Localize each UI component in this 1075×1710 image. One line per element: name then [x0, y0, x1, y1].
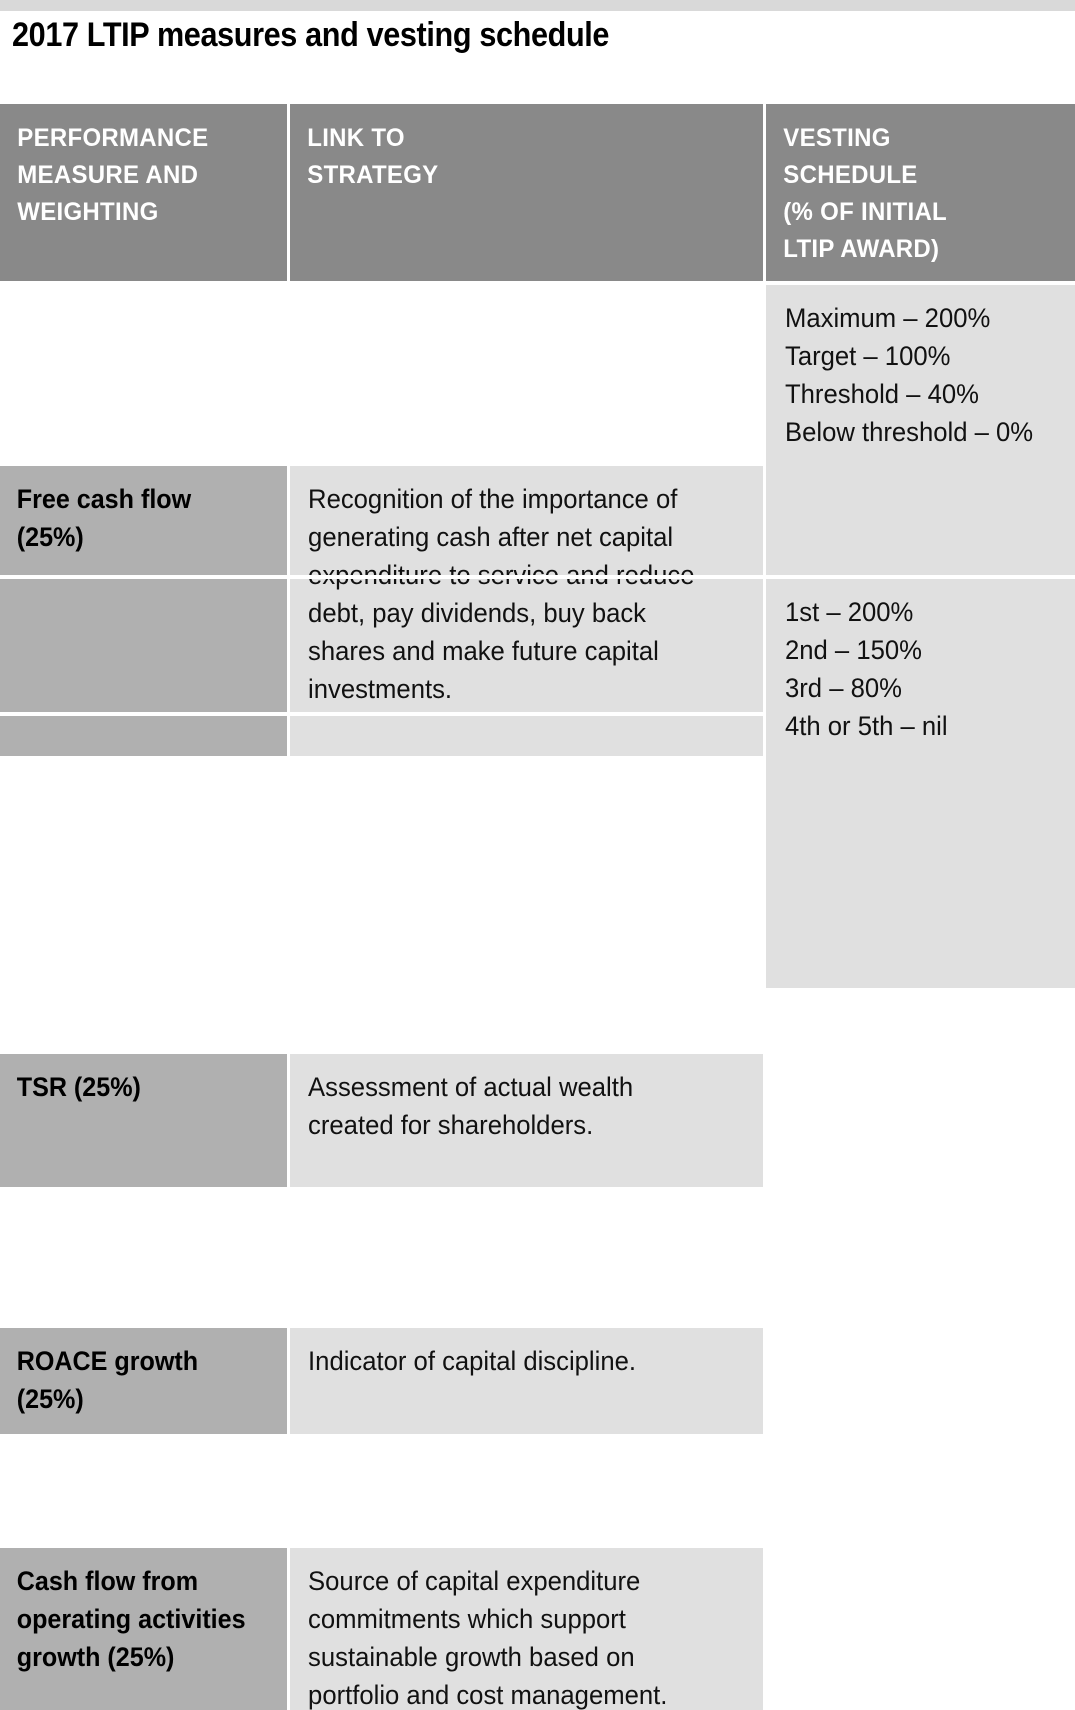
- measure-label: Free cash flow (25%): [0, 466, 267, 556]
- header-cell-performance-measure: PERFORMANCE MEASURE AND WEIGHTING: [0, 104, 287, 281]
- strategy-text: Assessment of actual wealth created for …: [290, 1054, 739, 1144]
- strategy-cell: Source of capital expenditure commitment…: [290, 1548, 763, 1710]
- header-line: (% OF INITIAL: [783, 198, 947, 226]
- header-line: LTIP AWARD): [783, 235, 939, 263]
- measure-label: Cash flow from operating activities grow…: [0, 1548, 267, 1676]
- column-divider-2: [763, 104, 766, 988]
- header-line: WEIGHTING: [17, 198, 158, 226]
- measure-cell: ROACE growth (25%): [0, 1328, 287, 1434]
- header-cell-link-to-strategy: LINK TO STRATEGY: [290, 104, 763, 281]
- measure-cell: Cash flow from operating activities grow…: [0, 1548, 287, 1710]
- strategy-text: Source of capital expenditure commitment…: [290, 1548, 739, 1710]
- vesting-line: 2nd – 150%: [785, 631, 1044, 669]
- vesting-line: 1st – 200%: [785, 593, 1044, 631]
- top-gray-strip: [0, 0, 1075, 11]
- strategy-text: Indicator of capital discipline.: [290, 1328, 739, 1380]
- strategy-cell: Indicator of capital discipline.: [290, 1328, 763, 1434]
- row-divider-header: [0, 281, 1075, 285]
- column-divider-1: [287, 104, 290, 988]
- header-line: LINK TO: [307, 124, 405, 152]
- vesting-line: 4th or 5th – nil: [785, 707, 1044, 745]
- strategy-cell: Assessment of actual wealth created for …: [290, 1054, 763, 1187]
- vesting-line: Below threshold – 0%: [785, 413, 1044, 451]
- header-line: MEASURE AND: [17, 161, 198, 189]
- header-cell-vesting-schedule: VESTING SCHEDULE (% OF INITIAL LTIP AWAR…: [766, 104, 1075, 281]
- vesting-line: Threshold – 40%: [785, 375, 1044, 413]
- header-line: STRATEGY: [307, 161, 438, 189]
- table-header-row: PERFORMANCE MEASURE AND WEIGHTING LINK T…: [0, 104, 1075, 281]
- header-line: PERFORMANCE: [17, 124, 208, 152]
- vesting-cell-block-2: 1st – 200% 2nd – 150% 3rd – 80% 4th or 5…: [766, 579, 1075, 988]
- measure-label: TSR (25%): [0, 1054, 267, 1106]
- row-divider-3: [0, 822, 763, 826]
- row-divider-1: [0, 575, 1075, 579]
- row-divider-2: [0, 712, 763, 716]
- vesting-line: Maximum – 200%: [785, 299, 1044, 337]
- page-title: 2017 LTIP measures and vesting schedule: [12, 14, 948, 56]
- vesting-line: Target – 100%: [785, 337, 1044, 375]
- measure-cell: TSR (25%): [0, 1054, 287, 1187]
- vesting-cell-block-1: Maximum – 200% Target – 100% Threshold –…: [766, 285, 1075, 575]
- measure-label: ROACE growth (25%): [0, 1328, 267, 1418]
- header-line: VESTING: [783, 124, 890, 152]
- header-line: SCHEDULE: [783, 161, 917, 189]
- document-page: 2017 LTIP measures and vesting schedule …: [0, 0, 1075, 988]
- ltip-table: PERFORMANCE MEASURE AND WEIGHTING LINK T…: [0, 104, 1075, 988]
- vesting-line: 3rd – 80%: [785, 669, 1044, 707]
